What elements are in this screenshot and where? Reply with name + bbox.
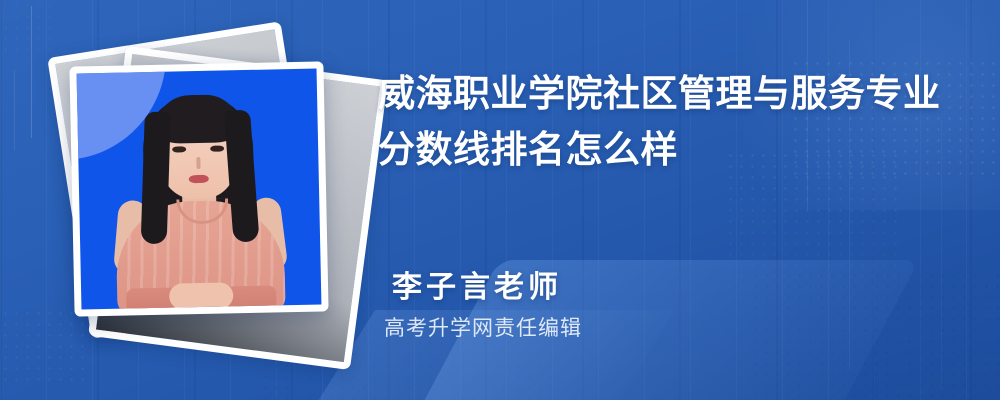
byline-block: 李子言老师 高考升学网责任编辑 (392, 268, 912, 344)
eye-right (210, 145, 224, 151)
nose (196, 157, 200, 169)
author-role: 高考升学网责任编辑 (384, 314, 912, 344)
banner-card: 威海职业学院社区管理与服务专业 分数线排名怎么样 李子言老师 高考升学网责任编辑 (0, 0, 1000, 400)
eye-left (172, 146, 186, 152)
page-title: 威海职业学院社区管理与服务专业 分数线排名怎么样 (378, 66, 978, 178)
mouth (189, 175, 209, 183)
hands (169, 282, 234, 309)
hair-strand-left (141, 112, 171, 245)
author-name: 李子言老师 (392, 268, 912, 308)
portrait-figure (77, 69, 322, 310)
headline-block: 威海职业学院社区管理与服务专业 分数线排名怎么样 (378, 66, 978, 178)
accent-line-2 (14, 70, 15, 150)
portrait-photo (69, 61, 328, 316)
accent-line-1 (31, 6, 32, 138)
photo-stack-icon (46, 36, 366, 366)
